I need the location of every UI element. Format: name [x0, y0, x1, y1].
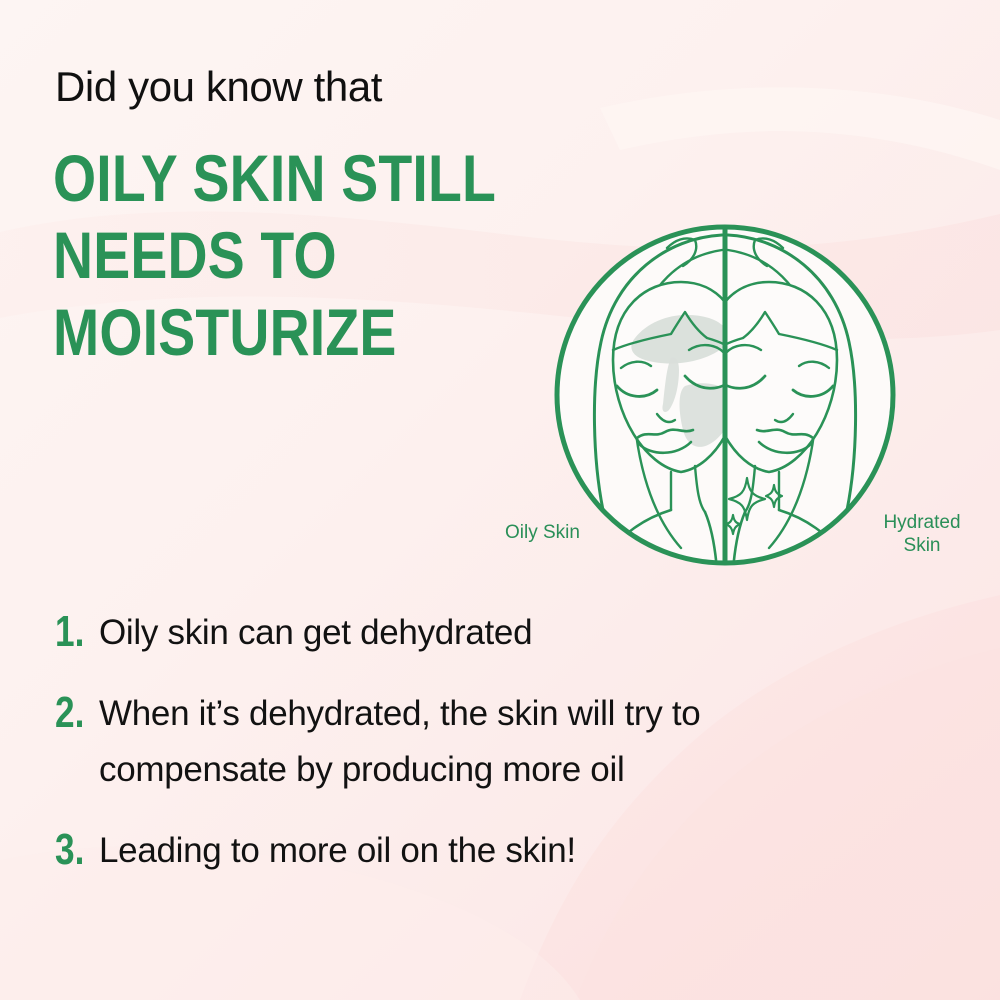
- facts-list: 1.Oily skin can get dehydrated 2.When it…: [55, 608, 935, 879]
- label-oily-skin: Oily Skin: [505, 521, 580, 544]
- list-item-text: Leading to more oil on the skin!: [99, 823, 576, 879]
- headline-line-2: NEEDS TO: [53, 217, 523, 294]
- headline-line-1: OILY SKIN STILL: [53, 140, 523, 217]
- label-hydrated-line2: Skin: [904, 535, 941, 556]
- poster-canvas: Did you know that OILY SKIN STILL NEEDS …: [0, 0, 1000, 1000]
- list-item: 3.Leading to more oil on the skin!: [55, 826, 935, 879]
- label-hydrated-skin: Hydrated Skin: [862, 511, 982, 557]
- list-item-text: Oily skin can get dehydrated: [99, 605, 532, 661]
- list-item: 1.Oily skin can get dehydrated: [55, 608, 935, 661]
- headline-line-3: MOISTURIZE: [53, 294, 523, 371]
- label-hydrated-line1: Hydrated: [883, 512, 960, 533]
- headline: OILY SKIN STILL NEEDS TO MOISTURIZE: [53, 140, 523, 371]
- list-item-text: When it’s dehydrated, the skin will try …: [99, 686, 859, 798]
- kicker-text: Did you know that: [55, 64, 382, 110]
- list-item: 2.When it’s dehydrated, the skin will tr…: [55, 689, 935, 798]
- list-item-number: 2.: [55, 689, 90, 737]
- list-item-number: 1.: [55, 608, 90, 656]
- list-item-number: 3.: [55, 826, 90, 874]
